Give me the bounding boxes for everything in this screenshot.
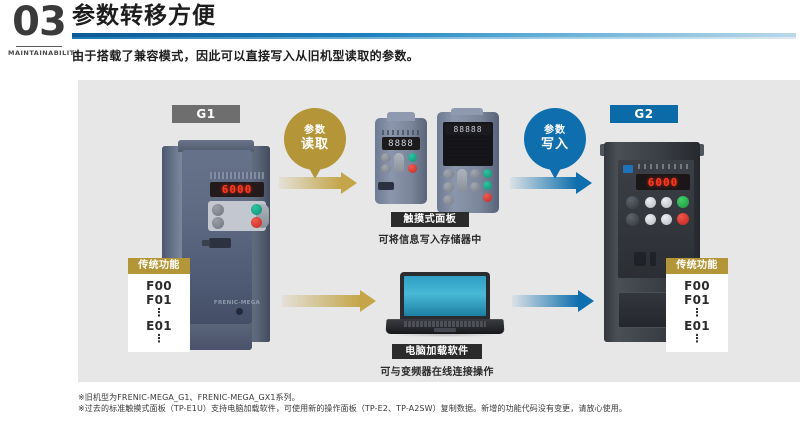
g2-key-down-icon xyxy=(626,213,639,226)
param-card-right: 传统功能 F00 F01 ⋮ E01 ⋮ xyxy=(666,258,728,352)
tp-large-key-5-icon xyxy=(470,182,480,192)
g2-brand-logo-icon xyxy=(623,165,633,173)
tp-small-key-up-icon xyxy=(381,153,391,162)
g2-indicator-strip xyxy=(638,164,688,169)
touch-panel-small-body: 8888 xyxy=(375,118,427,204)
tp-large-run-key-icon xyxy=(483,169,492,178)
callout-write-line1: 参数 xyxy=(544,126,566,137)
param-ellipsis-1-right: ⋮ xyxy=(666,307,728,319)
tp-large-stop-key-icon xyxy=(483,193,492,202)
param-item-f01-right: F01 xyxy=(666,293,728,307)
laptop-trackpad xyxy=(434,328,456,332)
callout-read-line1: 参数 xyxy=(304,126,326,137)
g1-run-key-icon xyxy=(251,204,262,215)
touch-panel-large: 88888 xyxy=(437,108,499,213)
section-number-subtitle: MAINTAINABILITY xyxy=(8,49,70,57)
arrow-shaft xyxy=(279,177,341,189)
g2-run-key-icon xyxy=(677,196,689,208)
touch-panel-large-display-value: 88888 xyxy=(453,125,482,134)
g1-stop-key-icon xyxy=(251,217,262,228)
param-card-left: 传统功能 F00 F01 ⋮ E01 ⋮ xyxy=(128,258,190,352)
callout-read-line2: 读取 xyxy=(301,138,329,152)
footnote-1: ※旧机型为FRENIC-MEGA_G1、FRENIC-MEGA_GX1系列。 xyxy=(78,392,300,403)
tp-large-key-2-icon xyxy=(443,182,454,192)
arrow-head xyxy=(578,290,594,312)
caption-badge-pc-software: 电脑加载软件 xyxy=(392,344,482,359)
g2-key-reset-icon xyxy=(661,197,672,208)
touch-panel-small-display-value: 8888 xyxy=(388,139,414,149)
callout-write-line2: 写入 xyxy=(541,138,569,152)
tp-small-key-down-icon xyxy=(381,164,391,173)
arrow-head xyxy=(576,172,592,194)
g2-stop-key-icon xyxy=(677,213,689,225)
laptop-lid xyxy=(400,272,490,320)
touch-panel-large-cap xyxy=(451,108,483,115)
g2-connector-port-secondary xyxy=(650,252,656,266)
device-label-g2: G2 xyxy=(610,105,678,123)
g2-led-value: 6000 xyxy=(648,176,679,189)
touch-panel-small-keypad xyxy=(380,153,422,177)
caption-text-pc-software: 可与变频器在线连接操作 xyxy=(350,363,524,378)
tp-small-nav-key xyxy=(394,153,404,173)
caption-text-touch-panel: 可将信息写入存储器中 xyxy=(344,231,516,246)
g2-key-up-icon xyxy=(626,196,639,209)
section-number-rule xyxy=(16,46,62,47)
g1-keypad xyxy=(208,201,266,231)
g1-connector-port xyxy=(209,238,231,248)
section-number: 03 xyxy=(8,2,70,42)
tp-large-func-key-icon xyxy=(483,181,492,190)
g2-key-func-icon xyxy=(645,214,656,225)
arrow-g1-to-pc-icon xyxy=(282,290,376,312)
param-item-f00-right: F00 xyxy=(666,279,728,293)
device-label-g1: G1 xyxy=(172,105,240,123)
header-accent-rule-thin xyxy=(72,37,796,39)
param-card-left-title: 传统功能 xyxy=(128,258,190,274)
caption-badge-touch-panel: 触摸式面板 xyxy=(391,212,469,227)
callout-parameter-read: 参数 读取 xyxy=(284,108,346,170)
touch-panel-large-lcd xyxy=(445,137,491,161)
g1-front-panel: 6000 FRENIC-MEGA xyxy=(182,150,252,324)
param-card-left-body: F00 F01 ⋮ E01 ⋮ xyxy=(128,274,190,352)
param-item-f01: F01 xyxy=(128,293,190,307)
g1-lower-cover xyxy=(182,324,252,350)
touch-panel-small: 8888 xyxy=(375,112,427,204)
arrow-shaft xyxy=(282,295,360,307)
page-title: 参数转移方便 xyxy=(72,3,216,29)
g2-led-display: 6000 xyxy=(636,174,690,190)
page-header: 03 MAINTAINABILITY 参数转移方便 由于搭载了兼容模式，因此可以… xyxy=(0,0,800,76)
tp-small-stop-key-icon xyxy=(408,164,417,173)
laptop-shadow xyxy=(392,333,498,337)
callout-parameter-write: 参数 写入 xyxy=(524,108,586,170)
tp-large-key-3-icon xyxy=(443,195,454,205)
touch-panel-small-display: 8888 xyxy=(382,137,420,150)
g1-indicator-strip xyxy=(210,172,264,179)
footnote-2: ※过去的标准触摸式面板（TP-E1U）支持电脑加载软件，可使用新的操作面板（TP… xyxy=(78,403,627,414)
g1-brand-text: FRENIC-MEGA xyxy=(204,300,270,306)
param-ellipsis-1: ⋮ xyxy=(128,307,190,319)
touch-panel-large-screen: 88888 xyxy=(443,122,493,166)
laptop-keyboard xyxy=(404,321,486,327)
tp-large-nav-key xyxy=(457,169,467,192)
arrow-shaft xyxy=(510,177,576,189)
g1-led-display: 6000 xyxy=(210,182,264,197)
touch-panel-large-keypad xyxy=(441,169,495,211)
laptop-screen xyxy=(404,276,486,316)
arrow-pc-to-g2-icon xyxy=(512,290,594,312)
touch-panel-small-label-strip xyxy=(382,130,420,135)
param-card-right-body: F00 F01 ⋮ E01 ⋮ xyxy=(666,274,728,352)
section-number-block: 03 MAINTAINABILITY xyxy=(8,2,70,57)
touch-panel-small-port xyxy=(378,182,394,190)
tp-large-key-1-icon xyxy=(443,169,454,179)
g1-led-value: 6000 xyxy=(222,183,253,196)
g2-key-shift-icon xyxy=(661,214,672,225)
laptop-pc xyxy=(386,272,504,338)
arrow-panel-to-g2-icon xyxy=(510,172,592,194)
g2-connector-port xyxy=(634,252,646,266)
param-item-e01-right: E01 xyxy=(666,319,728,333)
laptop-base xyxy=(385,319,504,334)
touch-panel-large-segment-display: 88888 xyxy=(445,124,491,135)
param-ellipsis-2: ⋮ xyxy=(128,333,190,345)
page-root: 03 MAINTAINABILITY 参数转移方便 由于搭载了兼容模式，因此可以… xyxy=(0,0,800,426)
param-card-right-title: 传统功能 xyxy=(666,258,728,274)
page-subtitle: 由于搭载了兼容模式，因此可以直接写入从旧机型读取的参数。 xyxy=(72,47,419,64)
touch-panel-large-body: 88888 xyxy=(437,112,499,213)
tp-small-run-key-icon xyxy=(408,153,417,162)
arrow-shaft xyxy=(512,295,578,307)
arrow-head xyxy=(341,172,357,194)
g1-key-down-icon xyxy=(212,217,224,229)
touch-panel-small-cap xyxy=(387,112,415,121)
g1-key-up-icon xyxy=(212,204,224,216)
arrow-g1-to-panel-icon xyxy=(279,172,357,194)
param-item-f00: F00 xyxy=(128,279,190,293)
g2-key-prog-icon xyxy=(645,197,656,208)
arrow-head xyxy=(360,290,376,312)
param-ellipsis-2-right: ⋮ xyxy=(666,333,728,345)
g1-screw-dot xyxy=(236,308,243,315)
tp-large-key-4-icon xyxy=(470,169,480,179)
param-item-e01: E01 xyxy=(128,319,190,333)
